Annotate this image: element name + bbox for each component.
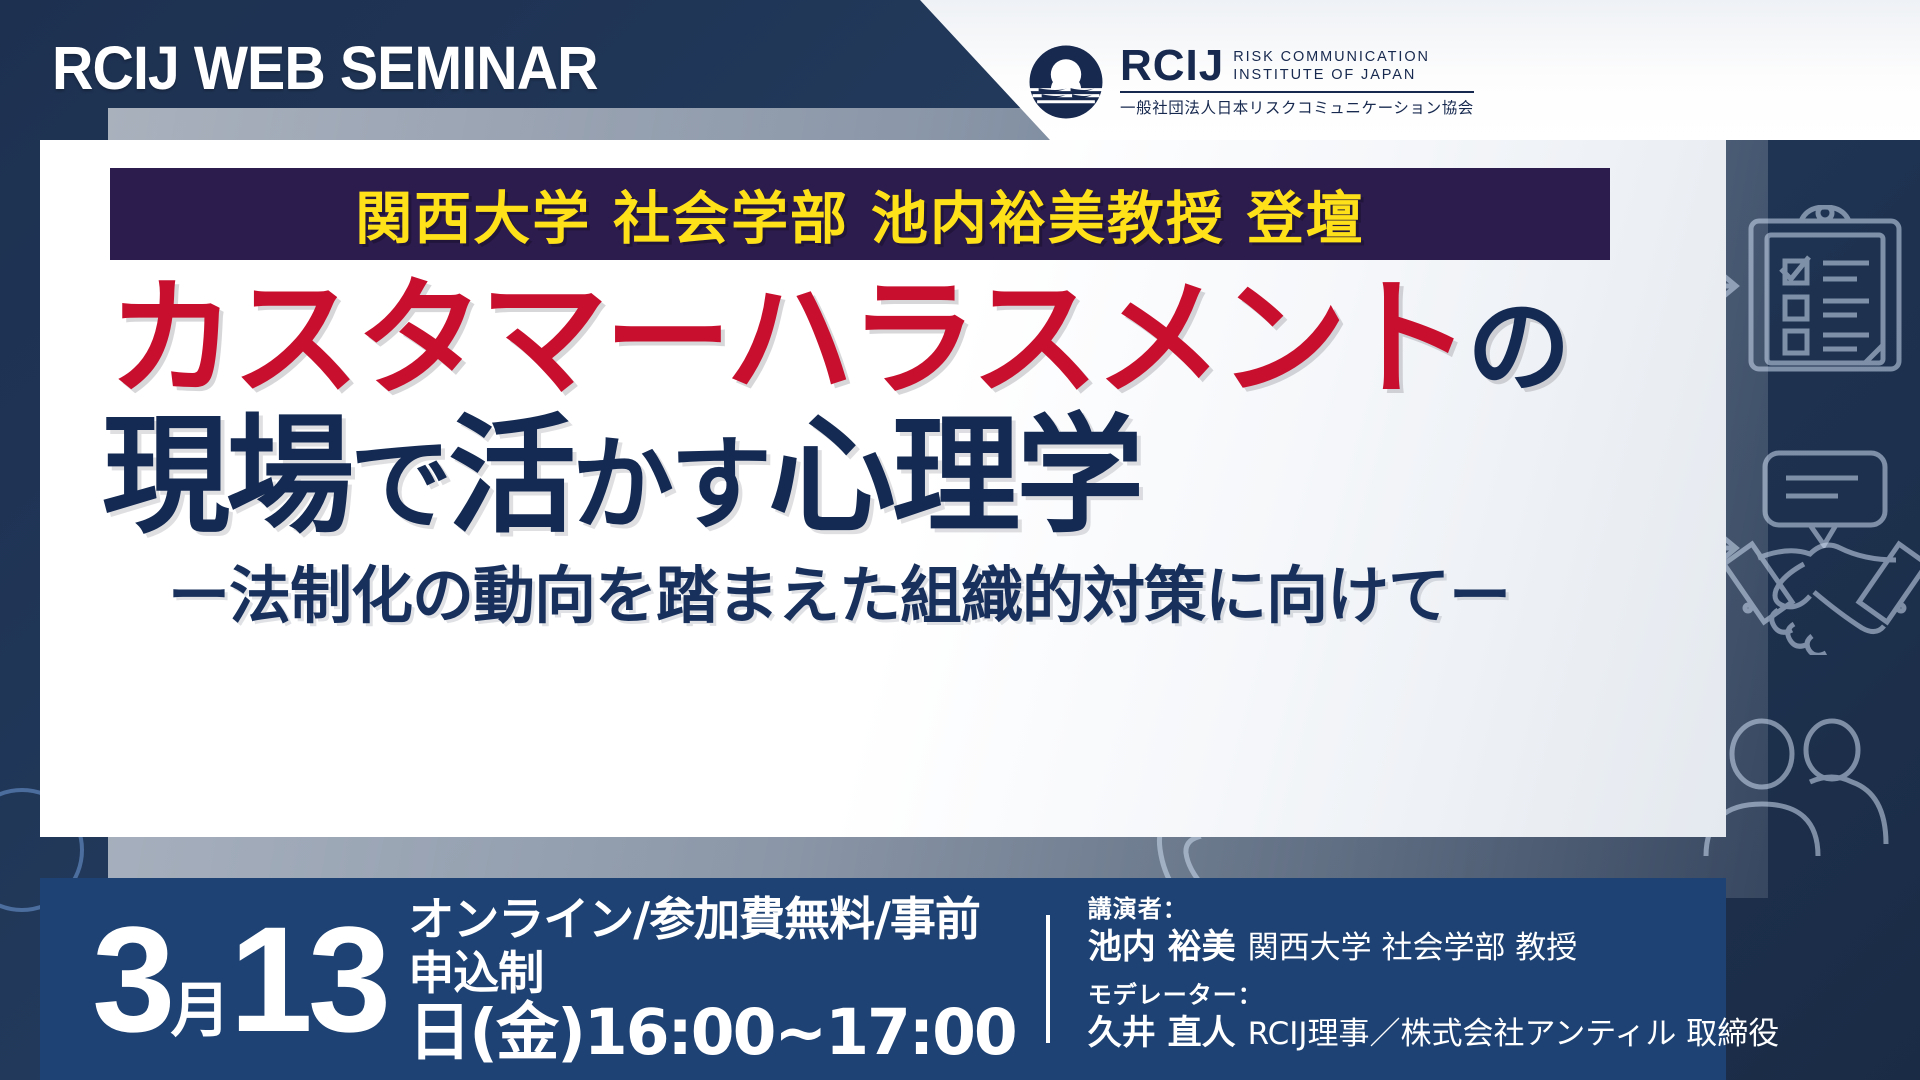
moderator-name: 久井 直人 (1088, 1013, 1236, 1053)
page-title: RCIJ WEB SEMINAR (52, 33, 598, 103)
moderator-affiliation: RCIJ理事／株式会社アンティル 取締役 (1248, 1016, 1780, 1052)
event-time-text: (金)16:00~17:00 (469, 996, 1015, 1069)
speaker-affiliation: 関西大学 社会学部 教授 (1248, 930, 1578, 966)
title-line-1-suffix: の (1467, 285, 1567, 408)
clipboard-checklist-icon (1745, 205, 1905, 375)
speaker-highlight-banner: 関西大学 社会学部 池内裕美教授 登壇 (110, 168, 1610, 260)
event-month-number: 3 (92, 919, 170, 1039)
moderator-role-label: モデレーター： (1088, 979, 1780, 1011)
title-line-2-a: 現場 (102, 401, 350, 551)
speaker-line: 池内 裕美関西大学 社会学部 教授 (1088, 925, 1780, 971)
people-block: 講演者： 池内 裕美関西大学 社会学部 教授 モデレーター： 久井 直人RCIJ… (1088, 893, 1780, 1066)
event-details-bar: 3 月 13 オンライン/参加費無料/事前申込制 日(金)16:00~17:00… (40, 878, 1726, 1080)
sunrise-over-water-icon (1028, 44, 1104, 120)
logo-text-block: RCIJ RISK COMMUNICATION INSTITUTE OF JAP… (1120, 46, 1474, 117)
event-day-number: 13 (229, 919, 386, 1039)
title-line-1-main: カスタマーハラスメント (108, 264, 1467, 414)
logo-en-line-1: RISK COMMUNICATION (1233, 48, 1430, 67)
title-line-2-e: 心理学 (768, 401, 1140, 551)
seminar-title-line-1: カスタマーハラスメントの (108, 275, 1688, 403)
logo-english-name: RISK COMMUNICATION INSTITUTE OF JAPAN (1233, 48, 1430, 87)
title-line-2-b: で (350, 425, 448, 545)
logo-primary-row: RCIJ RISK COMMUNICATION INSTITUTE OF JAP… (1120, 46, 1474, 86)
event-day-label: 日 (408, 996, 469, 1069)
content-card: 関西大学 社会学部 池内裕美教授 登壇 カスタマーハラスメントの 現場で活かす心… (40, 140, 1726, 837)
logo-acronym: RCIJ (1120, 46, 1224, 86)
rcij-logo: RCIJ RISK COMMUNICATION INSTITUTE OF JAP… (1028, 44, 1474, 120)
seminar-subtitle: ー法制化の動向を踏まえた組織的対策に向けてー (168, 565, 1668, 627)
seminar-title-line-2: 現場で活かす心理学 (102, 412, 1682, 540)
title-line-2-d: かす (572, 425, 768, 545)
speaker-name: 池内 裕美 (1088, 927, 1236, 967)
logo-japanese-name: 一般社団法人日本リスクコミュニケーション協会 (1120, 96, 1474, 118)
event-month-label: 月 (170, 987, 229, 1035)
title-line-2-c: 活 (448, 401, 572, 551)
speaker-role-label: 講演者： (1088, 893, 1780, 925)
moderator-line: 久井 直人RCIJ理事／株式会社アンティル 取締役 (1088, 1011, 1780, 1057)
seminar-poster: RCIJ WEB SEMINAR (0, 0, 1920, 1080)
speaker-highlight-text: 関西大学 社会学部 池内裕美教授 登壇 (355, 173, 1365, 255)
event-format-line: オンライン/参加費無料/事前申込制 (408, 892, 1015, 1001)
logo-divider (1120, 91, 1474, 93)
event-date: 3 月 13 (40, 919, 386, 1039)
header-bar: RCIJ WEB SEMINAR (0, 0, 1920, 140)
event-format-and-time: オンライン/参加費無料/事前申込制 日(金)16:00~17:00 (408, 892, 1015, 1067)
event-time-line: 日(金)16:00~17:00 (408, 1000, 1015, 1066)
footer-divider (1046, 915, 1050, 1043)
logo-en-line-2: INSTITUTE OF JAPAN (1233, 66, 1430, 85)
